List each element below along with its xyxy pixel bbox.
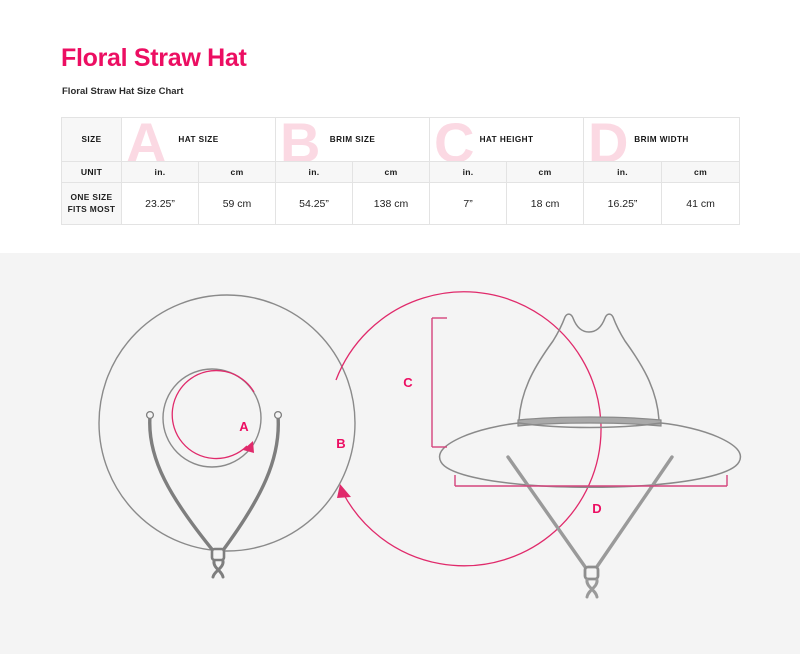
- watermark-letter-c: C: [434, 118, 475, 162]
- value-brim-size-in: 54.25”: [276, 183, 353, 225]
- watermark-letter-b: B: [280, 118, 321, 162]
- watermark-letter-d: D: [588, 118, 629, 162]
- unit-cell-brim-width-in: in.: [584, 162, 662, 183]
- value-hat-height-cm: 18 cm: [507, 183, 584, 225]
- chin-cord-right: [221, 416, 278, 553]
- value-hat-size-cm: 59 cm: [199, 183, 276, 225]
- brim-outline-circle: [99, 295, 355, 551]
- page-subtitle: Floral Straw Hat Size Chart: [62, 86, 183, 97]
- table-group-header-row: SIZE A HAT SIZE B BRIM SIZE C HAT HEIGHT: [62, 118, 740, 162]
- unit-cell-brim-width-cm: cm: [662, 162, 740, 183]
- table-unit-row-label: UNIT: [62, 162, 122, 183]
- dimension-bracket-c: [432, 318, 447, 447]
- row-label-line-2: FITS MOST: [68, 204, 116, 214]
- hat-measurement-diagrams: A B C: [0, 253, 800, 654]
- table-corner-size-label: SIZE: [62, 118, 122, 162]
- table-group-header-hat-height: C HAT HEIGHT: [430, 118, 584, 162]
- dimension-label-c: C: [403, 375, 413, 390]
- diagram-panel: A B C: [0, 253, 800, 654]
- size-chart-table: SIZE A HAT SIZE B BRIM SIZE C HAT HEIGHT: [61, 117, 740, 225]
- side-chin-cord-right: [594, 457, 672, 571]
- side-cord-toggle: [585, 567, 598, 579]
- value-hat-height-in: 7”: [430, 183, 507, 225]
- hat-top-view-diagram: A B: [99, 292, 601, 654]
- dimension-arc-a-arrowhead: [243, 441, 254, 453]
- dimension-arc-a: [172, 371, 254, 459]
- table-unit-row: UNIT in. cm in. cm in. cm in. cm: [62, 162, 740, 183]
- unit-cell-hat-height-cm: cm: [507, 162, 584, 183]
- dimension-label-a: A: [239, 419, 249, 434]
- watermark-letter-a: A: [126, 118, 167, 162]
- value-hat-size-in: 23.25”: [122, 183, 199, 225]
- crown-outline-circle: [163, 369, 261, 467]
- unit-cell-hat-size-in: in.: [122, 162, 199, 183]
- table-group-header-brim-size: B BRIM SIZE: [276, 118, 430, 162]
- row-label-line-1: ONE SIZE: [71, 192, 113, 202]
- size-chart-table-wrapper: SIZE A HAT SIZE B BRIM SIZE C HAT HEIGHT: [61, 117, 739, 225]
- table-row: ONE SIZE FITS MOST 23.25” 59 cm 54.25” 1…: [62, 183, 740, 225]
- hat-side-view-diagram: C D: [403, 314, 740, 597]
- cord-toggle: [212, 549, 224, 560]
- table-group-header-hat-size: A HAT SIZE: [122, 118, 276, 162]
- unit-cell-hat-size-cm: cm: [199, 162, 276, 183]
- header-panel: Floral Straw Hat Floral Straw Hat Size C…: [0, 0, 800, 253]
- unit-cell-brim-size-in: in.: [276, 162, 353, 183]
- value-brim-width-cm: 41 cm: [662, 183, 740, 225]
- value-brim-size-cm: 138 cm: [353, 183, 430, 225]
- cord-bead-left: [147, 412, 154, 419]
- table-row-label-one-size: ONE SIZE FITS MOST: [62, 183, 122, 225]
- unit-cell-hat-height-in: in.: [430, 162, 507, 183]
- cord-bead-right: [275, 412, 282, 419]
- dimension-label-d: D: [592, 501, 601, 516]
- brim-outline: [440, 423, 741, 487]
- unit-cell-brim-size-cm: cm: [353, 162, 430, 183]
- crown-outline: [519, 314, 659, 420]
- page-title: Floral Straw Hat: [61, 44, 247, 73]
- table-group-header-brim-width: D BRIM WIDTH: [584, 118, 740, 162]
- dimension-arc-b: [336, 292, 601, 566]
- value-brim-width-in: 16.25”: [584, 183, 662, 225]
- dimension-label-b: B: [336, 436, 345, 451]
